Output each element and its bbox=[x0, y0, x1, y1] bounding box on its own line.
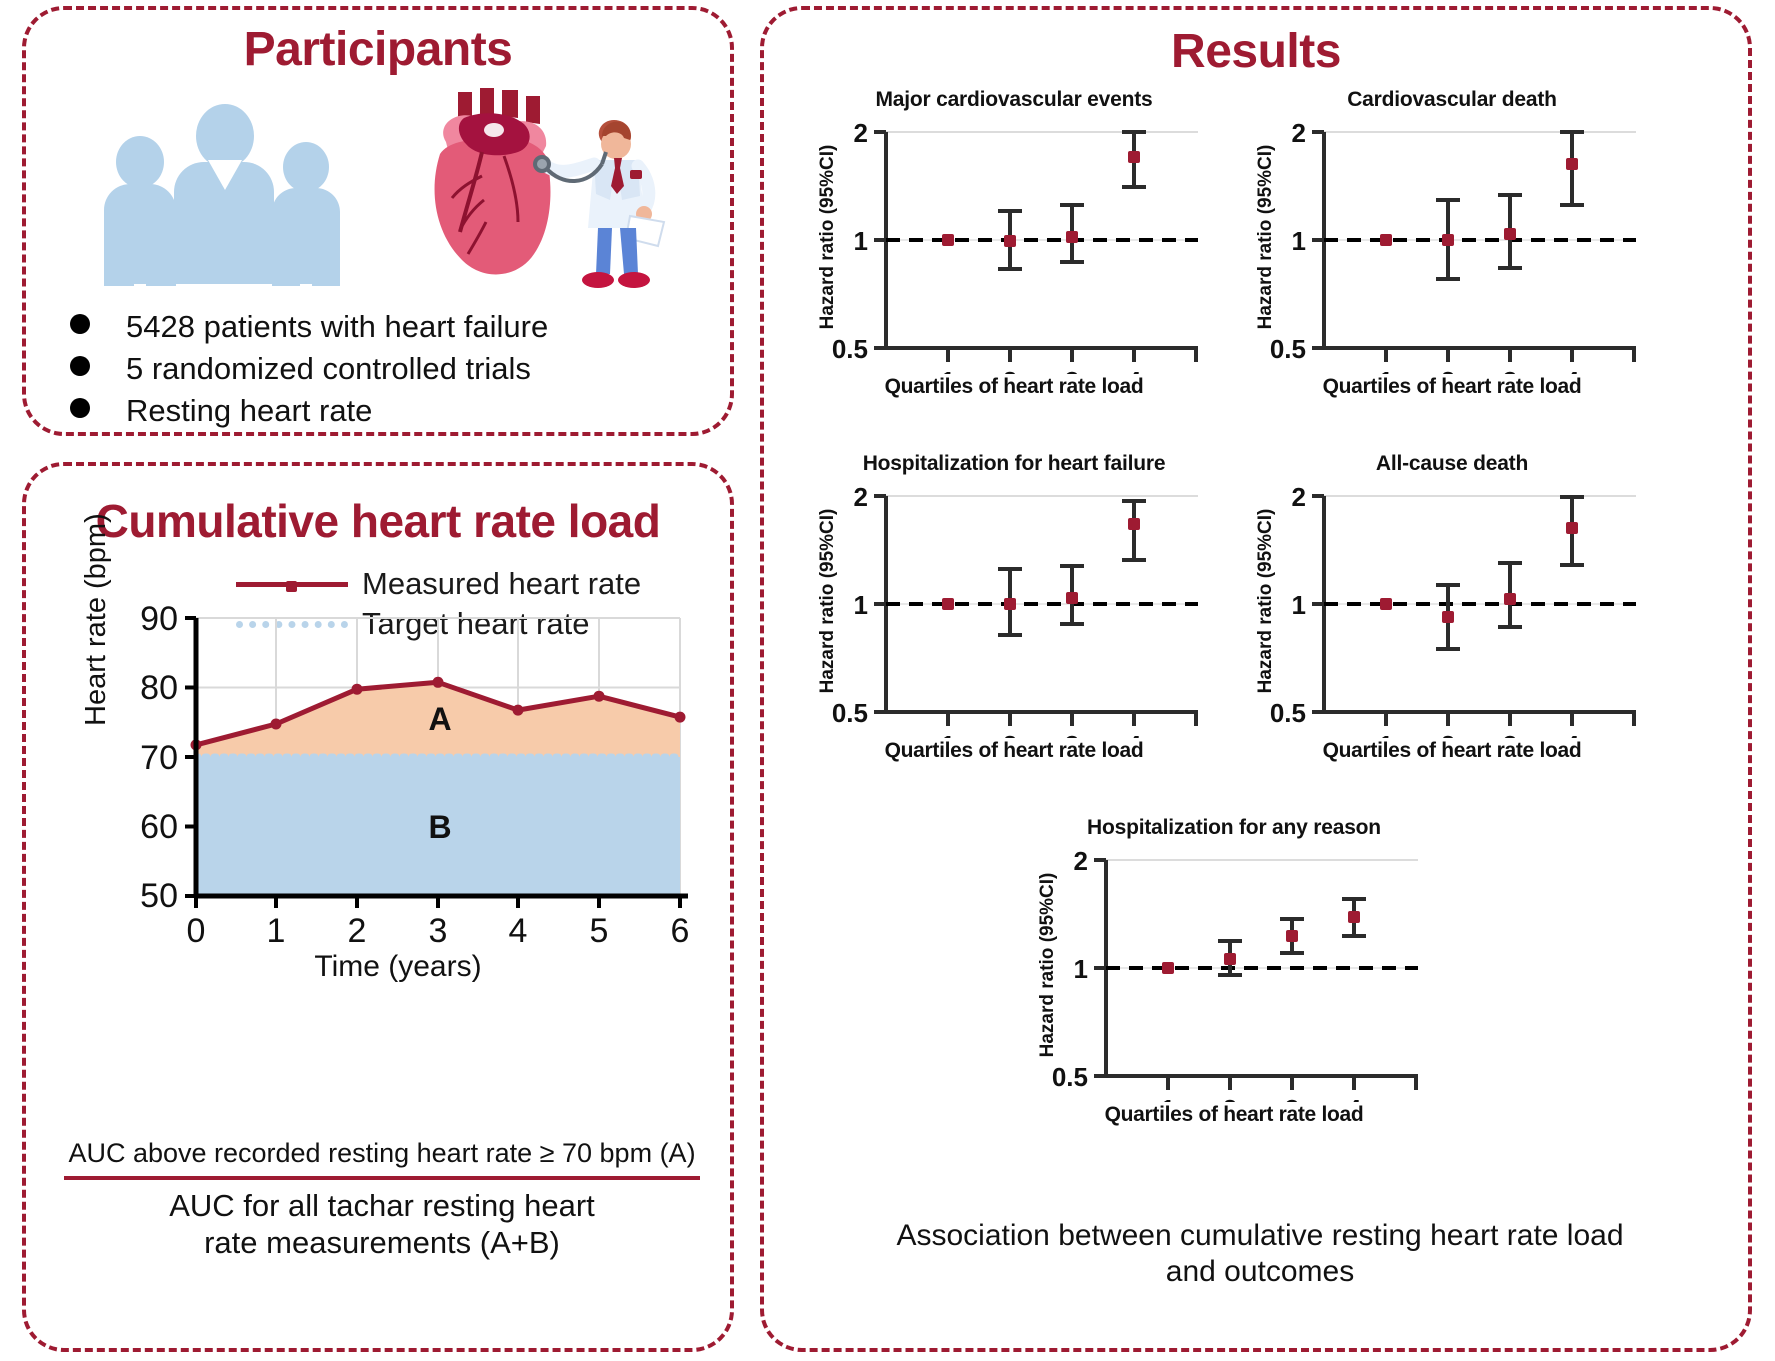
svg-text:0.5: 0.5 bbox=[1270, 334, 1306, 364]
svg-text:2: 2 bbox=[1292, 482, 1306, 512]
svg-text:3: 3 bbox=[1503, 730, 1517, 738]
forest-plot-all-cause-death: All-cause death Hazard ratio (95%CI) 2 1… bbox=[1252, 452, 1652, 763]
list-item-label: 5 randomized controlled trials bbox=[126, 352, 531, 386]
plot-canvas: 2 1 0.5 1 2 3 4 bbox=[1034, 842, 1434, 1102]
heart-with-doctor-icon bbox=[406, 82, 686, 302]
svg-text:1: 1 bbox=[1379, 366, 1393, 374]
plot-canvas: 2 1 0.5 1 2 3 4 bbox=[814, 114, 1214, 374]
y-axis-label: Hazard ratio (95%CI) bbox=[817, 137, 839, 337]
svg-text:4: 4 bbox=[1565, 366, 1580, 374]
svg-text:80: 80 bbox=[140, 669, 178, 707]
legend-entry-measured: Measured heart rate bbox=[236, 566, 706, 602]
results-caption: Association between cumulative resting h… bbox=[784, 1218, 1736, 1290]
list-item-label: 5428 patients with heart failure bbox=[126, 310, 548, 344]
svg-text:4: 4 bbox=[1127, 366, 1142, 374]
svg-text:2: 2 bbox=[348, 912, 367, 946]
svg-text:1: 1 bbox=[854, 226, 868, 256]
svg-text:2: 2 bbox=[854, 482, 868, 512]
x-axis-label: Quartiles of heart rate load bbox=[814, 375, 1214, 399]
svg-text:50: 50 bbox=[140, 877, 178, 915]
forest-plot-major-cardiovascular-events: Major cardiovascular events Hazard ratio… bbox=[814, 88, 1214, 399]
results-title: Results bbox=[764, 24, 1748, 79]
svg-text:1: 1 bbox=[854, 590, 868, 620]
bullet-dot-icon bbox=[70, 314, 90, 334]
auc-denominator-line-2: rate measurements (A+B) bbox=[50, 1225, 714, 1262]
results-panel: Results Major cardiovascular events Haza… bbox=[760, 6, 1752, 1352]
list-item: 5428 patients with heart failure bbox=[56, 310, 726, 344]
svg-text:6: 6 bbox=[671, 912, 690, 946]
plot-title: Hospitalization for heart failure bbox=[814, 452, 1214, 476]
list-item: 5 randomized controlled trials bbox=[56, 352, 726, 386]
bullet-dot-icon bbox=[70, 398, 90, 418]
fraction-rule bbox=[64, 1176, 700, 1180]
participants-panel: Participants bbox=[22, 6, 734, 436]
svg-text:90: 90 bbox=[140, 606, 178, 638]
forest-plot-hospitalization-heart-failure: Hospitalization for heart failure Hazard… bbox=[814, 452, 1214, 763]
cumulative-load-panel: Cumulative heart rate load Measured hear… bbox=[22, 462, 734, 1352]
auc-denominator: AUC for all tachar resting heart rate me… bbox=[50, 1188, 714, 1261]
plot-canvas: 2 1 0.5 1 2 3 4 bbox=[814, 478, 1214, 738]
svg-text:60: 60 bbox=[140, 808, 178, 846]
svg-text:3: 3 bbox=[429, 912, 448, 946]
y-axis-label: Heart rate (bpm) bbox=[80, 513, 113, 726]
svg-text:1: 1 bbox=[941, 366, 955, 374]
plot-title: Cardiovascular death bbox=[1252, 88, 1652, 112]
svg-text:3: 3 bbox=[1065, 730, 1079, 738]
line-marker-swatch-icon bbox=[236, 582, 348, 587]
svg-text:2: 2 bbox=[854, 118, 868, 148]
forest-plot-cardiovascular-death: Cardiovascular death Hazard ratio (95%CI… bbox=[1252, 88, 1652, 399]
x-axis-label: Quartiles of heart rate load bbox=[814, 739, 1214, 763]
svg-text:4: 4 bbox=[1347, 1094, 1362, 1102]
list-item-label: Resting heart rate bbox=[126, 394, 372, 428]
svg-text:3: 3 bbox=[1503, 366, 1517, 374]
participants-bullet-list: 5428 patients with heart failure 5 rando… bbox=[56, 310, 726, 436]
y-axis-label: Hazard ratio (95%CI) bbox=[1255, 137, 1277, 337]
svg-text:2: 2 bbox=[1292, 118, 1306, 148]
svg-text:5: 5 bbox=[590, 912, 609, 946]
svg-text:0: 0 bbox=[187, 912, 206, 946]
auc-numerator: AUC above recorded resting heart rate ≥ … bbox=[50, 1138, 714, 1176]
svg-text:0.5: 0.5 bbox=[832, 334, 868, 364]
y-axis-label: Hazard ratio (95%CI) bbox=[817, 501, 839, 701]
svg-text:70: 70 bbox=[140, 739, 178, 777]
svg-text:1: 1 bbox=[267, 912, 286, 946]
legend-label: Measured heart rate bbox=[362, 566, 641, 602]
svg-text:1: 1 bbox=[1161, 1094, 1175, 1102]
y-axis-label: Hazard ratio (95%CI) bbox=[1255, 501, 1277, 701]
svg-text:2: 2 bbox=[1003, 730, 1017, 738]
svg-text:0.5: 0.5 bbox=[832, 698, 868, 728]
svg-text:4: 4 bbox=[1127, 730, 1142, 738]
plot-title: Hospitalization for any reason bbox=[1034, 816, 1434, 840]
svg-text:1: 1 bbox=[1379, 730, 1393, 738]
people-group-icon bbox=[104, 94, 354, 284]
svg-text:3: 3 bbox=[1285, 1094, 1299, 1102]
list-item: Resting heart rate bbox=[56, 394, 726, 428]
svg-text:1: 1 bbox=[1292, 226, 1306, 256]
graphical-abstract: Participants bbox=[0, 0, 1775, 1361]
x-axis-label: Quartiles of heart rate load bbox=[1252, 375, 1652, 399]
plot-canvas: 2 1 0.5 1 2 3 4 bbox=[1252, 478, 1652, 738]
svg-text:1: 1 bbox=[1074, 954, 1088, 984]
svg-text:2: 2 bbox=[1223, 1094, 1237, 1102]
svg-text:4: 4 bbox=[509, 912, 528, 946]
plot-title: Major cardiovascular events bbox=[814, 88, 1214, 112]
load-chart-canvas: A B 90 80 70 60 50 bbox=[88, 606, 708, 946]
y-axis-label: Hazard ratio (95%CI) bbox=[1037, 865, 1059, 1065]
svg-text:0.5: 0.5 bbox=[1052, 1062, 1088, 1092]
svg-text:2: 2 bbox=[1003, 366, 1017, 374]
auc-denominator-line-1: AUC for all tachar resting heart bbox=[50, 1188, 714, 1225]
results-caption-line-2: and outcomes bbox=[784, 1254, 1736, 1290]
svg-text:A: A bbox=[428, 701, 451, 737]
svg-text:1: 1 bbox=[1292, 590, 1306, 620]
results-caption-line-1: Association between cumulative resting h… bbox=[784, 1218, 1736, 1254]
svg-text:3: 3 bbox=[1065, 366, 1079, 374]
participants-title: Participants bbox=[26, 22, 730, 77]
bullet-dot-icon bbox=[70, 356, 90, 376]
svg-text:2: 2 bbox=[1441, 730, 1455, 738]
cumulative-load-chart: Heart rate (bpm) bbox=[88, 606, 708, 986]
plot-title: All-cause death bbox=[1252, 452, 1652, 476]
svg-text:B: B bbox=[428, 809, 451, 845]
svg-text:1: 1 bbox=[941, 730, 955, 738]
forest-plot-hospitalization-any-reason: Hospitalization for any reason Hazard ra… bbox=[1034, 816, 1434, 1127]
plot-canvas: 2 1 0.5 1 2 3 4 bbox=[1252, 114, 1652, 374]
svg-text:0.5: 0.5 bbox=[1270, 698, 1306, 728]
svg-text:2: 2 bbox=[1441, 366, 1455, 374]
x-axis-label: Quartiles of heart rate load bbox=[1252, 739, 1652, 763]
x-axis-label: Quartiles of heart rate load bbox=[1034, 1103, 1434, 1127]
svg-text:4: 4 bbox=[1565, 730, 1580, 738]
x-axis-label: Time (years) bbox=[88, 950, 708, 984]
cumulative-load-title: Cumulative heart rate load bbox=[26, 494, 730, 548]
svg-text:2: 2 bbox=[1074, 846, 1088, 876]
auc-fraction: AUC above recorded resting heart rate ≥ … bbox=[50, 1138, 714, 1261]
